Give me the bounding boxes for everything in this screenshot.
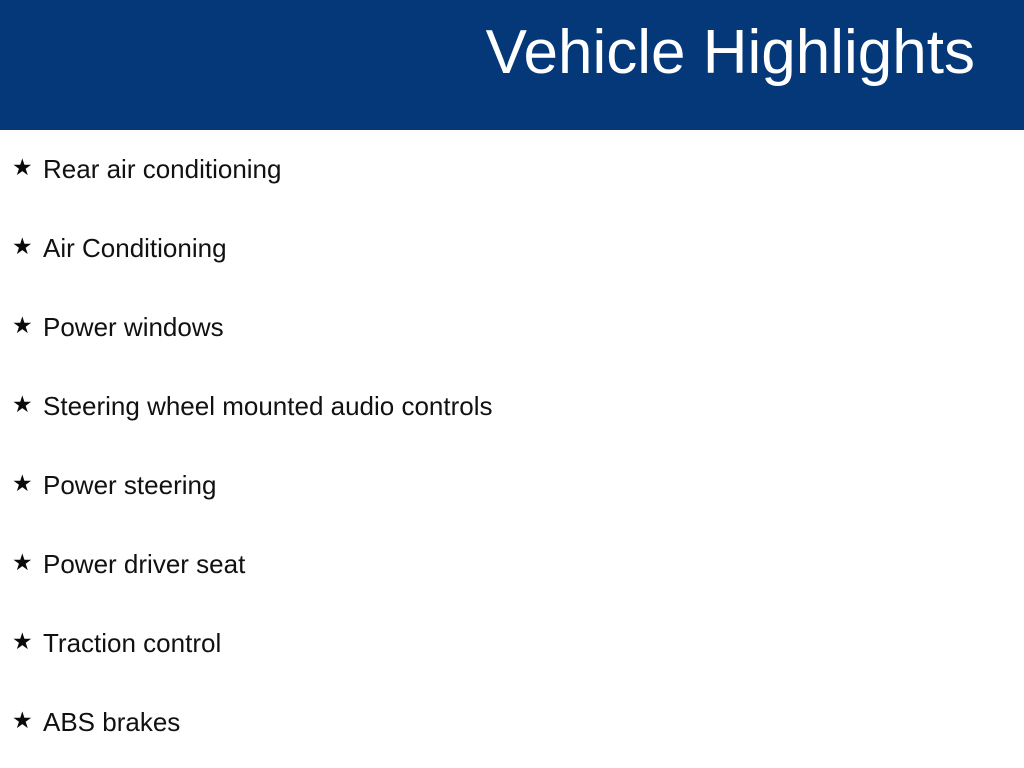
slide-header-band: Vehicle Highlights xyxy=(0,0,1024,130)
list-item-label: Rear air conditioning xyxy=(43,155,281,185)
list-item-label: Power windows xyxy=(43,313,224,343)
star-bullet-icon: ★ xyxy=(12,394,34,417)
list-item-label: Steering wheel mounted audio controls xyxy=(43,392,493,422)
star-bullet-icon: ★ xyxy=(12,236,34,259)
star-bullet-icon: ★ xyxy=(12,552,34,575)
list-item: ★ Power windows xyxy=(0,288,1024,367)
star-bullet-icon: ★ xyxy=(12,631,34,654)
list-item-label: Traction control xyxy=(43,629,221,659)
list-item-label: Air Conditioning xyxy=(43,234,227,264)
star-bullet-icon: ★ xyxy=(12,315,34,338)
list-item-label: Power driver seat xyxy=(43,550,245,580)
list-item: ★ Power steering xyxy=(0,446,1024,525)
list-item: ★ ABS brakes xyxy=(0,683,1024,762)
list-item: ★ Rear air conditioning xyxy=(0,130,1024,209)
star-bullet-icon: ★ xyxy=(12,157,34,180)
list-item-label: ABS brakes xyxy=(43,708,180,738)
star-bullet-icon: ★ xyxy=(12,473,34,496)
list-item: ★ Air Conditioning xyxy=(0,209,1024,288)
slide-body: ★ Rear air conditioning ★ Air Conditioni… xyxy=(0,130,1024,768)
vehicle-highlights-list: ★ Rear air conditioning ★ Air Conditioni… xyxy=(0,130,1024,762)
list-item-label: Power steering xyxy=(43,471,216,501)
list-item: ★ Power driver seat xyxy=(0,525,1024,604)
page-title: Vehicle Highlights xyxy=(486,22,975,84)
star-bullet-icon: ★ xyxy=(12,710,34,733)
list-item: ★ Traction control xyxy=(0,604,1024,683)
vehicle-highlights-slide: Vehicle Highlights ★ Rear air conditioni… xyxy=(0,0,1024,768)
list-item: ★ Steering wheel mounted audio controls xyxy=(0,367,1024,446)
